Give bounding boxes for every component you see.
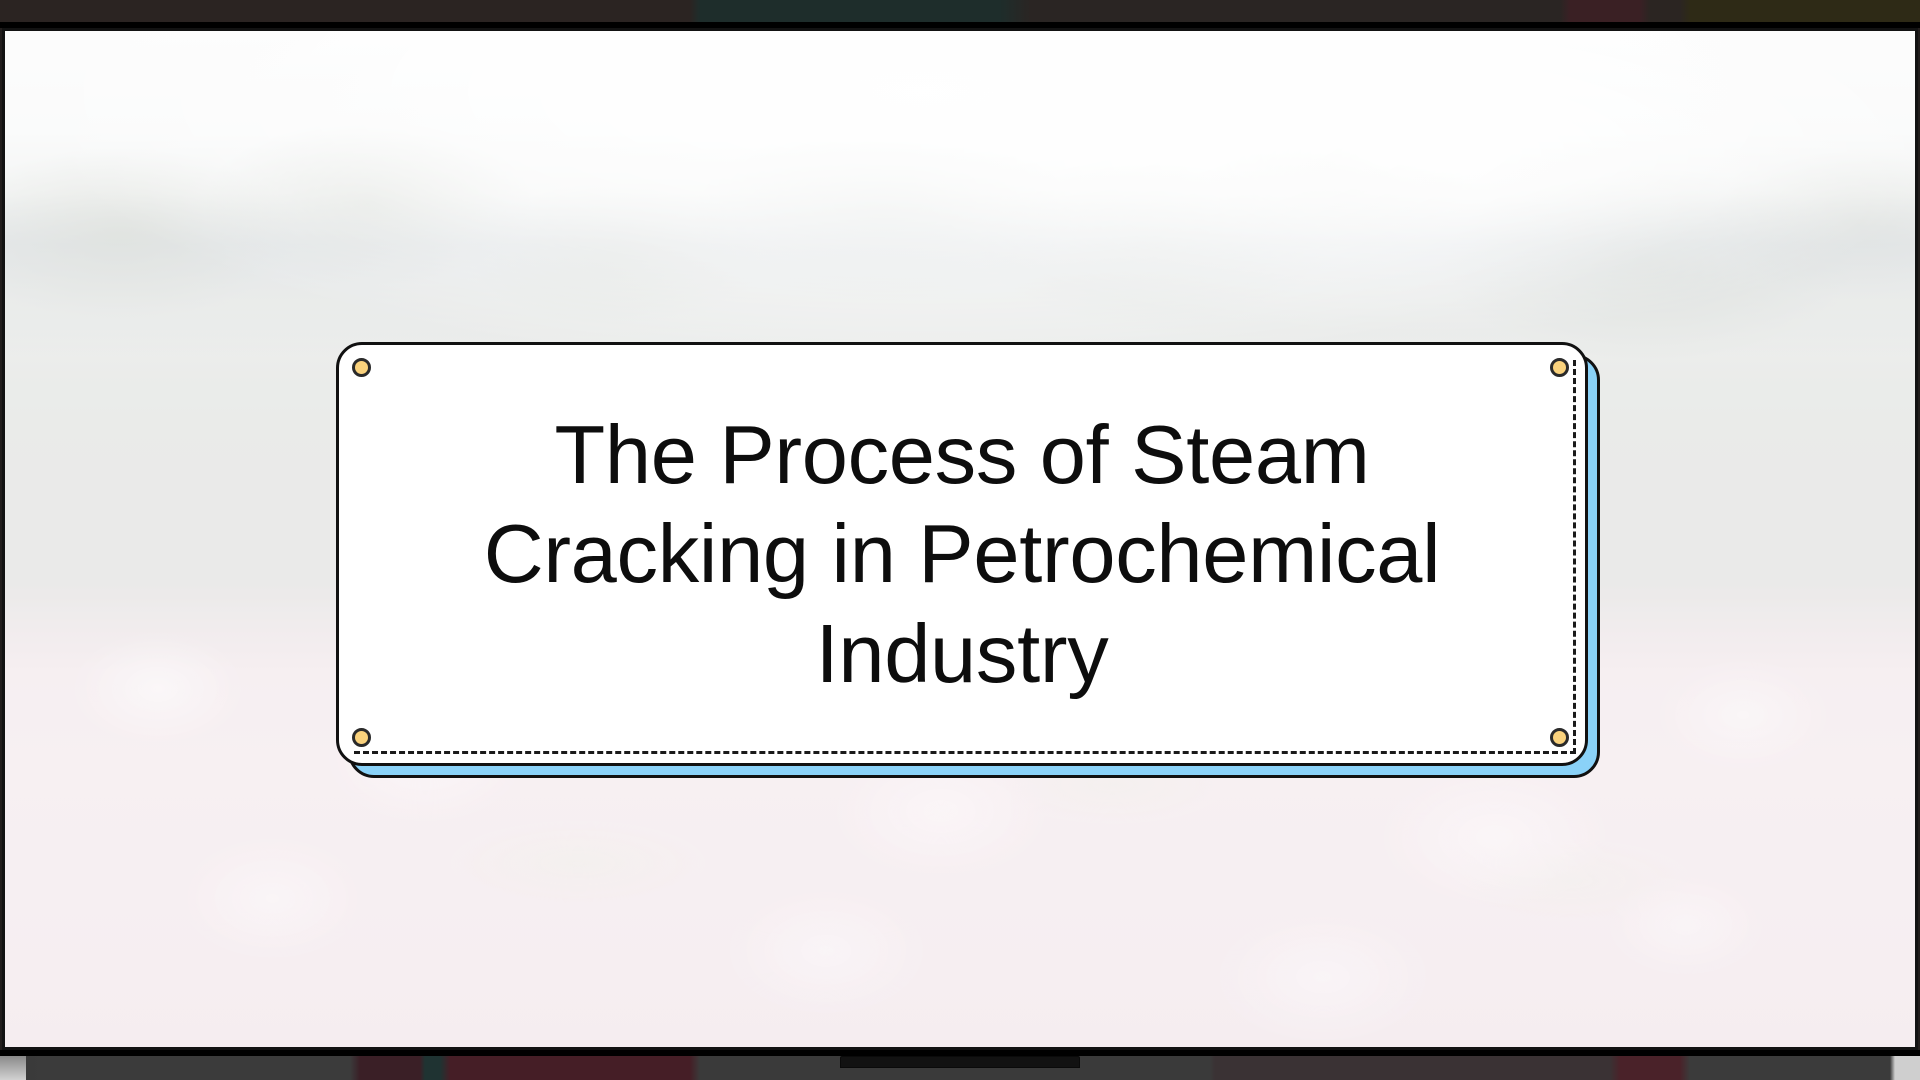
title-text: The Process of Steam Cracking in Petroch… [422,405,1502,704]
title-line-3: Industry [422,604,1502,704]
slide-canvas[interactable]: The Process of Steam Cracking in Petroch… [2,28,1918,1050]
title-line-1: The Process of Steam [422,405,1502,505]
resize-handle-top-left[interactable] [352,358,371,377]
title-line-2: Cracking in Petrochemical [422,504,1502,604]
title-textbox[interactable]: The Process of Steam Cracking in Petroch… [336,342,1588,766]
resize-handle-bottom-left[interactable] [352,728,371,747]
screen: The Process of Steam Cracking in Petroch… [0,0,1920,1080]
top-desktop-strip [0,0,1920,22]
resize-handle-top-right[interactable] [1550,358,1569,377]
title-textbox-selection[interactable]: The Process of Steam Cracking in Petroch… [336,342,1604,782]
bottom-left-edge-tab [0,1056,26,1080]
presentation-control-bar[interactable] [840,1056,1080,1068]
resize-handle-bottom-right[interactable] [1550,728,1569,747]
